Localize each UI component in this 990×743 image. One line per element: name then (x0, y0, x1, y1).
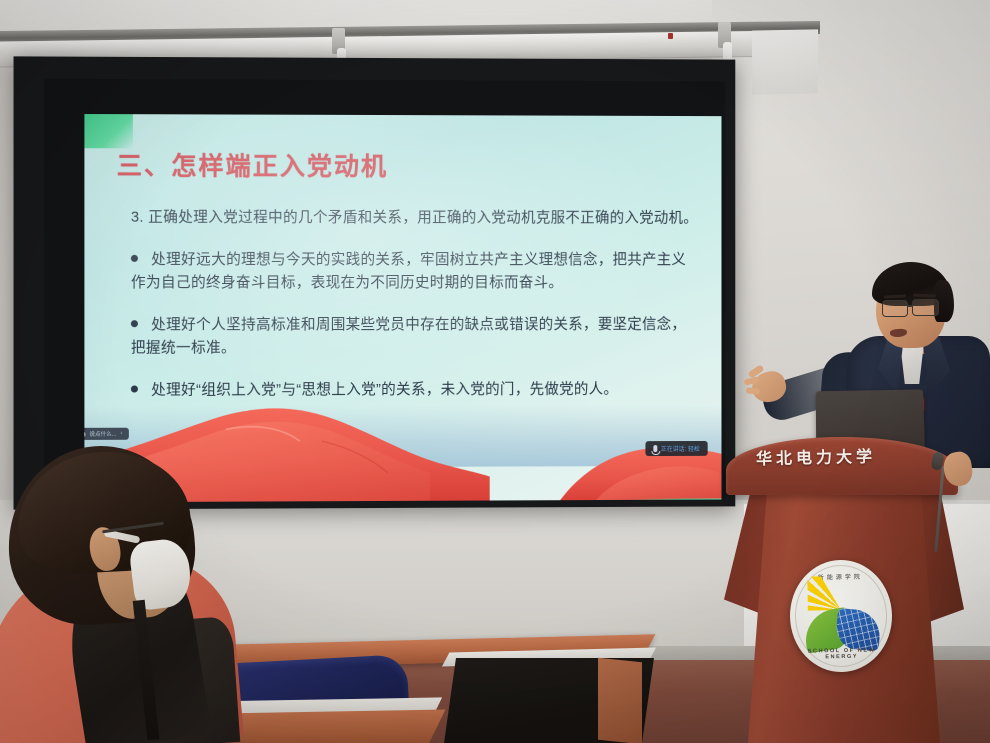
desk-back-leg (598, 658, 642, 743)
slide-bullet-item: 处理好“组织上入党”与“思想上入党”的关系，未入党的门，先做党的人。 (131, 378, 700, 402)
slide-bullet-item: 处理好个人坚持高标准和周围某些党员中存在的缺点或错误的关系，要坚定信念，把握统一… (131, 314, 700, 361)
slide-corner-accent (84, 114, 132, 148)
slide-bullet-text: 处理好“组织上入党”与“思想上入党”的关系，未入党的门，先做党的人。 (151, 382, 618, 399)
active-speaker-label: 正在讲话: 轻松 (661, 444, 700, 453)
speaker-glasses-bridge (907, 305, 913, 307)
chat-input-pill[interactable]: 说点什么... ‹ (84, 428, 128, 440)
slide-bullet-item: 处理好远大的理想与今天的实践的关系，牢固树立共产主义理想信念，把共产主义作为自己… (131, 249, 700, 295)
bullet-dot-icon (131, 255, 138, 262)
emblem-sun-icon (807, 575, 874, 610)
bullet-dot-icon (131, 320, 138, 327)
slide-lead-paragraph: 3. 正确处理入党过程中的几个矛盾和关系，用正确的入党动机克服不正确的入党动机。 (131, 207, 700, 231)
emoji-icon (84, 430, 85, 437)
podium-university-name: 华北电力大学 (746, 443, 886, 470)
bullet-dot-icon (131, 385, 138, 392)
screen-roller-endcap (752, 29, 818, 94)
active-speaker-pill[interactable]: 正在讲话: 轻松 (645, 441, 708, 456)
chevron-left-icon: ‹ (120, 431, 122, 437)
school-emblem: 新能源学院 SCHOOL OF NEW ENERGY (789, 559, 893, 673)
slide-corner-accent-bottom (631, 499, 722, 503)
projector-screen: 三、怎样端正入党动机 3. 正确处理入党过程中的几个矛盾和关系，用正确的入党动机… (14, 56, 736, 509)
speaker-glasses-left-lens (882, 300, 908, 317)
emblem-english-text: SCHOOL OF NEW ENERGY (791, 647, 893, 661)
slide-haze (84, 404, 721, 468)
lecture-hall-photo: 三、怎样端正入党动机 3. 正确处理入党过程中的几个矛盾和关系，用正确的入党动机… (0, 0, 990, 743)
projector-screen-surface: 三、怎样端正入党动机 3. 正确处理入党过程中的几个矛盾和关系，用正确的入党动机… (44, 79, 725, 503)
slide-bullet-text: 处理好个人坚持高标准和周围某些党员中存在的缺点或错误的关系，要坚定信念，把握统一… (131, 317, 686, 357)
microphone-icon (653, 445, 657, 452)
rail-label (670, 31, 714, 44)
slide-body: 3. 正确处理入党过程中的几个矛盾和关系，用正确的入党动机克服不正确的入党动机。… (131, 207, 700, 422)
presentation-slide: 三、怎样端正入党动机 3. 正确处理入党过程中的几个矛盾和关系，用正确的入党动机… (84, 114, 721, 502)
slide-title: 三、怎样端正入党动机 (117, 146, 388, 183)
slide-bullet-text: 处理好远大的理想与今天的实践的关系，牢固树立共产主义理想信念，把共产主义作为自己… (131, 252, 686, 291)
chat-input-placeholder: 说点什么... (89, 430, 116, 438)
speaker-glasses-right-lens (912, 299, 939, 316)
